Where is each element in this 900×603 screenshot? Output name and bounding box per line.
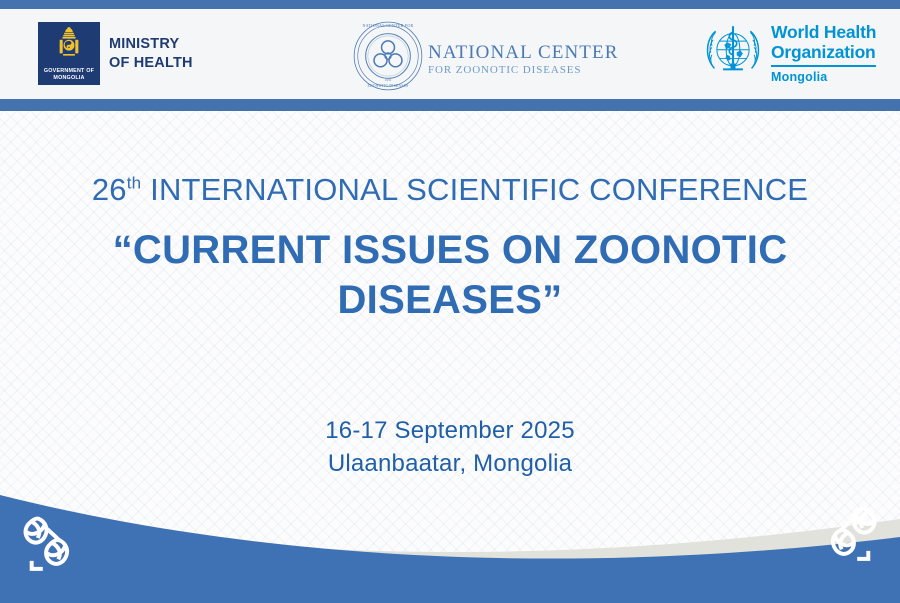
mongolian-soyombo-emblem-icon [52, 26, 86, 60]
national-center-name-line2: FOR ZOONOTIC DISEASES [428, 63, 618, 77]
mongolian-ulzii-knot-icon [14, 505, 92, 575]
who-mongolia-logo: World Health Organization Mongolia [702, 20, 876, 84]
ornament-right [808, 495, 886, 565]
conference-theme-line2: DISEASES” [0, 275, 900, 325]
conference-theme: “CURRENT ISSUES ON ZOONOTIC DISEASES” [0, 225, 900, 325]
title-block: 26th INTERNATIONAL SCIENTIFIC CONFERENCE… [0, 171, 900, 325]
wave-grey-shape [0, 507, 900, 603]
conference-theme-line1: “CURRENT ISSUES ON ZOONOTIC [0, 225, 900, 275]
ministry-name-line2: OF HEALTH [109, 54, 193, 73]
biohazard-seal-icon: NATIONAL CENTER FOR ZOONOTIC DISEASES 19… [352, 20, 424, 92]
who-divider [771, 65, 876, 67]
who-country-label: Mongolia [771, 70, 876, 84]
who-rod-of-asclepius-globe-icon [702, 20, 764, 82]
national-center-name: NATIONAL CENTER FOR ZOONOTIC DISEASES [428, 35, 618, 77]
who-name-line1: World Health [771, 22, 876, 42]
header-separator-bar [0, 99, 900, 111]
crest-caption-line2: MONGOLIA [38, 75, 100, 82]
event-date: 16-17 September 2025 [0, 414, 900, 447]
wave-blue-shape [0, 495, 900, 603]
ministry-of-health-logo: GOVERNMENT OF MONGOLIA MINISTRY OF HEALT… [38, 22, 193, 85]
event-details: 16-17 September 2025 Ulaanbaatar, Mongol… [0, 414, 900, 480]
ornament-left [14, 505, 92, 575]
bottom-wave-decoration [0, 463, 900, 603]
who-name-line2: Organization [771, 42, 876, 62]
mongolia-government-crest: GOVERNMENT OF MONGOLIA [38, 22, 100, 85]
ministry-name-line1: MINISTRY [109, 35, 193, 54]
ministry-of-health-name: MINISTRY OF HEALTH [109, 35, 193, 73]
conference-ordinal-suffix: th [127, 174, 142, 193]
crest-caption: GOVERNMENT OF MONGOLIA [38, 68, 100, 82]
who-name-block: World Health Organization Mongolia [771, 20, 876, 84]
conference-number: 26 [92, 172, 127, 207]
top-accent-bar [0, 0, 900, 9]
national-center-zoonotic-diseases-logo: NATIONAL CENTER FOR ZOONOTIC DISEASES 19… [352, 20, 618, 92]
svg-text:1931: 1931 [385, 78, 392, 82]
event-location: Ulaanbaatar, Mongolia [0, 447, 900, 480]
slide-body: 26th INTERNATIONAL SCIENTIFIC CONFERENCE… [0, 111, 900, 603]
mongolian-ulzii-knot-icon [808, 495, 886, 565]
conference-title-slide: GOVERNMENT OF MONGOLIA MINISTRY OF HEALT… [0, 0, 900, 603]
conference-heading: 26th INTERNATIONAL SCIENTIFIC CONFERENCE [0, 171, 900, 209]
svg-text:ZOONOTIC DISEASES: ZOONOTIC DISEASES [368, 84, 409, 88]
conference-label: INTERNATIONAL SCIENTIFIC CONFERENCE [150, 172, 808, 207]
crest-caption-line1: GOVERNMENT OF [38, 68, 100, 75]
svg-text:NATIONAL CENTER FOR: NATIONAL CENTER FOR [362, 23, 413, 28]
national-center-name-line1: NATIONAL CENTER [428, 43, 618, 63]
